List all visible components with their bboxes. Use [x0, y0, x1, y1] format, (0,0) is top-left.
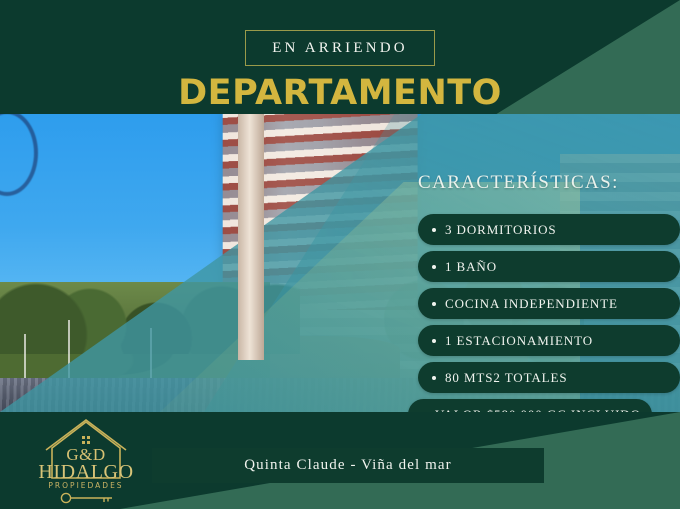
location-label: Quinta Claude - Viña del mar [244, 457, 452, 474]
listing-type-label: EN ARRIENDO [272, 40, 408, 57]
feature-item-area: 80 MTS2 TOTALES [418, 362, 680, 393]
feature-item-kitchen: COCINA INDEPENDIENTE [418, 288, 680, 319]
bullet-icon [432, 228, 436, 232]
feature-label: COCINA INDEPENDIENTE [445, 296, 618, 312]
features-heading: CARACTERÍSTICAS: [418, 172, 619, 194]
feature-label: 80 MTS2 TOTALES [445, 370, 568, 386]
bullet-icon [432, 302, 436, 306]
tower-service-column [238, 114, 264, 360]
feature-item-bedrooms: 3 DORMITORIOS [418, 214, 680, 245]
bullet-icon [432, 376, 436, 380]
real-estate-flyer: EN ARRIENDO DEPARTAMENTO CARACTERÍSTICAS… [0, 0, 680, 509]
page-title: DEPARTAMENTO [0, 74, 680, 112]
company-logo: G&D HIDALGO PROPIEDADES [36, 418, 136, 504]
feature-label: 3 DORMITORIOS [445, 222, 557, 238]
features-list: 3 DORMITORIOS 1 BAÑO COCINA INDEPENDIENT… [418, 214, 680, 436]
logo-tagline: PROPIEDADES [36, 481, 136, 490]
bullet-icon [432, 339, 436, 343]
listing-type-badge: EN ARRIENDO [245, 30, 435, 66]
feature-item-bathrooms: 1 BAÑO [418, 251, 680, 282]
feature-label: 1 ESTACIONAMIENTO [445, 333, 593, 349]
feature-label: 1 BAÑO [445, 259, 497, 275]
bullet-icon [432, 265, 436, 269]
feature-item-parking: 1 ESTACIONAMIENTO [418, 325, 680, 356]
key-icon [58, 492, 116, 504]
location-bar: Quinta Claude - Viña del mar [152, 448, 544, 483]
